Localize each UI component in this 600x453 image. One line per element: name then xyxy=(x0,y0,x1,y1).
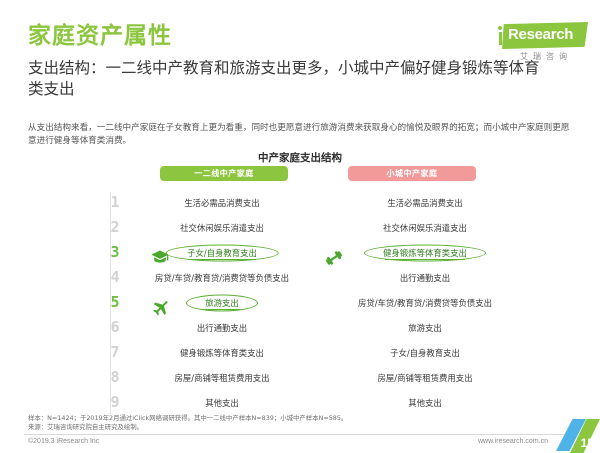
website-url: www.iresearch.com.cn xyxy=(478,438,548,445)
highlight-underline xyxy=(385,259,465,260)
table-cell-label: 出行通勤支出 xyxy=(191,321,253,335)
table-cell-b: 生活必需品消费支出 xyxy=(330,196,520,210)
table-cell-label: 子女/自身教育支出 xyxy=(384,346,466,360)
table-cell-b: 其他支出 xyxy=(330,396,520,410)
rank-number: 4 xyxy=(104,268,126,287)
table-row: 7健身锻炼等体育类支出子女/自身教育支出 xyxy=(0,340,600,365)
table-cell-label: 房贷/车贷/教育贷/消费贷等负债支出 xyxy=(149,271,295,285)
table-cell-a: 子女/自身教育支出 xyxy=(132,246,312,260)
table-cell-label: 健身锻炼等体育类支出 xyxy=(377,246,473,260)
table-cell-label: 健身锻炼等体育类支出 xyxy=(174,346,270,360)
table-row: 5旅游支出房贷/车贷/教育贷/消费贷等负债支出 xyxy=(0,290,600,315)
column-header-small-city: 小城中产家庭 xyxy=(348,166,476,181)
expenditure-table: 1生活必需品消费支出生活必需品消费支出2社交休闲娱乐消遣支出社交休闲娱乐消遣支出… xyxy=(0,190,600,415)
table-cell-label: 旅游支出 xyxy=(402,321,448,335)
table-row: 1生活必需品消费支出生活必需品消费支出 xyxy=(0,190,600,215)
copyright-text: ©2019.3 iResearch Inc xyxy=(28,438,99,445)
table-cell-label: 其他支出 xyxy=(402,396,448,410)
table-cell-a: 房贷/车贷/教育贷/消费贷等负债支出 xyxy=(132,271,312,285)
footnote-source: 来源：艾瑞咨询研究院自主研究及绘制。 xyxy=(28,423,448,432)
table-cell-b: 旅游支出 xyxy=(330,321,520,335)
table-cell-label: 其他支出 xyxy=(199,396,245,410)
rank-number: 6 xyxy=(104,318,126,337)
logo-i-dot-icon xyxy=(498,26,502,30)
table-cell-b: 社交休闲娱乐消遣支出 xyxy=(330,221,520,235)
rank-number: 1 xyxy=(104,193,126,212)
slide-page: 家庭资产属性 Research 艾瑞咨询 支出结构：一二线中产教育和旅游支出更多… xyxy=(0,0,600,453)
table-cell-b: 健身锻炼等体育类支出 xyxy=(330,246,520,260)
table-cell-b: 出行通勤支出 xyxy=(330,271,520,285)
footnote-sample: 样本：N=1424；于2019年2月通过iClick网络调研获得。其中一二线中产… xyxy=(28,414,448,423)
logo-wordmark: Research xyxy=(508,26,573,43)
table-cell-label: 生活必需品消费支出 xyxy=(178,196,265,210)
table-row: 6出行通勤支出旅游支出 xyxy=(0,315,600,340)
page-title: 家庭资产属性 xyxy=(28,25,172,48)
footer-divider xyxy=(24,434,576,435)
rank-number: 9 xyxy=(104,393,126,412)
table-cell-a: 社交休闲娱乐消遣支出 xyxy=(132,221,312,235)
table-row: 8房屋/商铺等租赁费用支出房屋/商铺等租赁费用支出 xyxy=(0,365,600,390)
rank-number: 5 xyxy=(104,293,126,312)
table-cell-label: 旅游支出 xyxy=(199,296,245,310)
rank-number: 3 xyxy=(104,243,126,262)
table-row: 4房贷/车贷/教育贷/消费贷等负债支出出行通勤支出 xyxy=(0,265,600,290)
table-cell-label: 房屋/商铺等租赁费用支出 xyxy=(169,371,276,385)
rank-number: 2 xyxy=(104,218,126,237)
iresearch-logo: Research 艾瑞咨询 xyxy=(484,22,588,62)
table-row: 9其他支出其他支出 xyxy=(0,390,600,415)
column-header-tier1-2: 一二线中产家庭 xyxy=(160,166,288,181)
table-cell-label: 房屋/商铺等租赁费用支出 xyxy=(372,371,479,385)
table-cell-label: 社交休闲娱乐消遣支出 xyxy=(174,221,270,235)
table-cell-a: 生活必需品消费支出 xyxy=(132,196,312,210)
table-cell-b: 房屋/商铺等租赁费用支出 xyxy=(330,371,520,385)
rank-number: 8 xyxy=(104,368,126,387)
table-cell-b: 子女/自身教育支出 xyxy=(330,346,520,360)
table-cell-b: 房贷/车贷/教育贷/消费贷等负债支出 xyxy=(330,296,520,310)
slide-subtitle: 支出结构：一二线中产教育和旅游支出更多，小城中产偏好健身锻炼等体育类支出 xyxy=(28,58,548,100)
table-row: 3子女/自身教育支出健身锻炼等体育类支出 xyxy=(0,240,600,265)
table-cell-a: 出行通勤支出 xyxy=(132,321,312,335)
highlight-underline xyxy=(188,259,257,260)
table-cell-label: 生活必需品消费支出 xyxy=(381,196,468,210)
table-cell-label: 子女/自身教育支出 xyxy=(181,246,263,260)
page-number: 15 xyxy=(581,436,594,450)
highlight-underline xyxy=(203,309,241,310)
footnote: 样本：N=1424；于2019年2月通过iClick网络调研获得。其中一二线中产… xyxy=(28,414,448,432)
logo-i-stem-icon xyxy=(499,32,502,45)
table-cell-a: 旅游支出 xyxy=(132,296,312,310)
slide-lede-paragraph: 从支出结构来看，一二线中产家庭在子女教育上更为看重，同时也更愿意进行旅游消费来获… xyxy=(28,122,576,148)
table-cell-a: 其他支出 xyxy=(132,396,312,410)
chart-title: 中产家庭支出结构 xyxy=(0,150,600,165)
table-cell-label: 社交休闲娱乐消遣支出 xyxy=(377,221,473,235)
table-cell-a: 健身锻炼等体育类支出 xyxy=(132,346,312,360)
table-cell-label: 房贷/车贷/教育贷/消费贷等负债支出 xyxy=(352,296,498,310)
table-cell-a: 房屋/商铺等租赁费用支出 xyxy=(132,371,312,385)
table-cell-label: 出行通勤支出 xyxy=(394,271,456,285)
rank-number: 7 xyxy=(104,343,126,362)
table-row: 2社交休闲娱乐消遣支出社交休闲娱乐消遣支出 xyxy=(0,215,600,240)
